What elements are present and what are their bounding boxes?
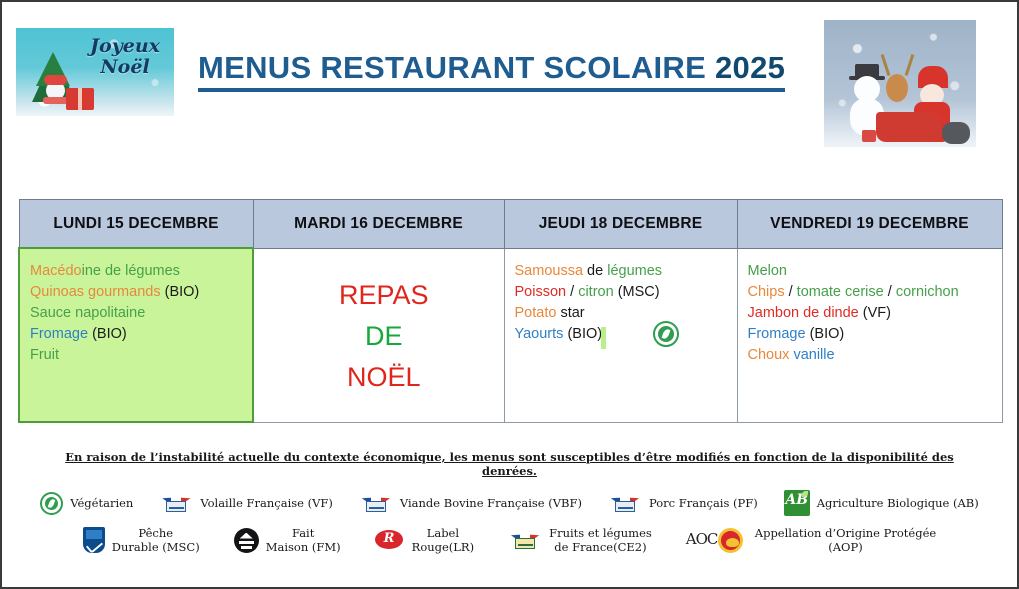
dish-text-segment: (MSC) [618,284,660,300]
table-header-row: LUNDI 15 DECEMBRE MARDI 16 DECEMBRE JEUD… [19,200,1002,249]
snowman-hat-icon [44,75,67,85]
dish-text-segment: / [888,284,896,300]
dish-text-segment: (BIO) [165,284,200,300]
christmas-meal-line-3: NOËL [264,357,504,398]
dish-text-segment: (BIO) [810,326,845,342]
dish-text-segment: vanille [793,347,834,363]
reindeer-antler-right-icon [905,54,915,76]
column-header-jeudi: JEUDI 18 DECEMBRE [504,200,737,249]
rosette-plate [515,538,535,549]
dish-line: Fromage (BIO) [30,324,252,345]
dish-text-segment: légumes [607,263,662,279]
agriculture-biologique-ab-icon: AB [784,490,810,516]
dish-text-segment: citron [578,284,618,300]
dish-line: Potato star [515,303,737,324]
green-accent-bar [601,327,606,349]
christmas-meal-line-2: DE [264,316,504,357]
legend-item: ABAgriculture Biologique (AB) [784,490,979,516]
small-gift-icon [862,130,876,142]
christmas-meal-line-1: REPAS [264,275,504,316]
menu-table: LUNDI 15 DECEMBRE MARDI 16 DECEMBRE JEUD… [18,199,1003,423]
dish-line: Jambon de dinde (VF) [748,303,1002,324]
dish-line: Choux vanille [748,345,1002,366]
legend-label: Agriculture Biologique (AB) [817,496,979,510]
dish-text-segment: Fruit [30,347,59,363]
vegetarian-icon [40,492,63,515]
dish-text-segment: tomate cerise [797,284,888,300]
menu-page: Joyeux Noël MENUS RESTAURANT SCOLAIRE 20… [0,0,1019,589]
snowman-scarf-icon [43,97,68,104]
table-row: Macédoine de légumesQuinoas gourmands (B… [19,248,1002,422]
label-rouge-blob [375,530,403,549]
dish-line: Macédoine de légumes [30,261,252,282]
dish-text-segment: Fromage [30,326,92,342]
dish-text-segment: Fromage [748,326,810,342]
check-icon [86,537,103,554]
dish-text-segment: / [570,284,578,300]
rosette-plate [615,501,635,512]
dish-text-segment: star [560,305,584,321]
legend-item: Porc Français (PF) [608,490,758,516]
dish-text-segment: Jambon de dinde [748,305,863,321]
msc-top-band [86,530,102,539]
sleigh-icon [876,112,942,142]
dish-text-segment: cornichon [896,284,959,300]
msc-sustainable-fishing-icon [83,527,105,553]
dish-text-segment: ine de légumes [82,263,180,279]
dish-line: Sauce napolitaine [30,303,252,324]
legend-item: Label Rouge(LR) [375,526,474,554]
rosette-plate [166,501,186,512]
reindeer-antler-left-icon [881,54,891,76]
dish-text-segment: Chips [748,284,789,300]
dish-line: Samoussa de légumes [515,261,737,282]
gift-box-icon [66,88,94,110]
legend-item: Pêche Durable (MSC) [83,526,200,554]
dish-line: Fruit [30,345,252,366]
footer-legend: En raison de l’instabilité actuelle du c… [2,450,1017,554]
menu-cell-vendredi: MelonChips / tomate cerise / cornichonJa… [737,248,1002,422]
legend-label: Fait Maison (FM) [266,526,341,554]
legend-label: Viande Bovine Française (VBF) [400,496,582,510]
dish-line: Quinoas gourmands (BIO) [30,282,252,303]
french-pork-rosette-icon [608,490,642,516]
dish-text-segment: / [789,284,797,300]
dish-text-segment: (VF) [863,305,891,321]
menu-cell-lundi: Macédoine de légumesQuinoas gourmands (B… [19,248,253,422]
dish-line: Melon [748,261,1002,282]
legend-item: Viande Bovine Française (VBF) [359,490,582,516]
legend-label: Appellation d’Origine Protégée (AOP) [755,526,936,554]
label-rouge-icon [375,529,405,551]
dish-line: Chips / tomate cerise / cornichon [748,282,1002,303]
dish-line: Fromage (BIO) [748,324,1002,345]
legend-item: Fruits et légumes de France(CE2) [508,526,652,554]
page-title-main: MENUS RESTAURANT SCOLAIRE [198,50,715,85]
legend-item: Volaille Française (VF) [159,490,333,516]
dish-text-segment: Poisson [515,284,571,300]
dish-text-segment: Melon [748,263,788,279]
dish-text-segment: (BIO) [567,326,602,342]
legend-label: Pêche Durable (MSC) [112,526,200,554]
menu-cell-jeudi: Samoussa de légumesPoisson / citron (MSC… [504,248,737,422]
dish-line: Poisson / citron (MSC) [515,282,737,303]
reindeer-head-icon [886,74,908,102]
pan-bar-icon [239,541,254,544]
dish-text-segment: Sauce napolitaine [30,305,145,321]
legend-label: Fruits et légumes de France(CE2) [549,526,652,554]
column-header-lundi: LUNDI 15 DECEMBRE [19,200,253,249]
fruits-legumes-de-france-icon [508,527,542,553]
dish-text-segment: Potato [515,305,561,321]
column-header-mardi: MARDI 16 DECEMBRE [253,200,504,249]
french-beef-rosette-icon [359,490,393,516]
column-header-vendredi: VENDREDI 19 DECEMBRE [737,200,1002,249]
aop-appellation-origine-protegee-icon: AOC [686,527,748,553]
legend-item: Végétarien [40,492,133,515]
gift-sack-icon [942,122,970,144]
menu-cell-mardi: REPAS DE NOËL [253,248,504,422]
page-title: MENUS RESTAURANT SCOLAIRE 2025 [198,50,785,92]
dish-text-segment: (BIO) [92,326,127,342]
dish-text-segment: de [587,263,607,279]
joyeux-noel-image: Joyeux Noël [16,28,174,116]
rosette-plate [366,501,386,512]
vegetarian-badge-icon [653,321,679,347]
dish-list-vendredi: MelonChips / tomate cerise / cornichonJa… [748,261,1002,366]
legend-label: Label Rouge(LR) [412,526,474,554]
dish-text-segment: Yaourts [515,326,568,342]
snow-ground [824,147,976,163]
page-title-year: 2025 [715,50,785,85]
dish-line: Yaourts (BIO) [515,324,737,345]
dish-list-jeudi: Samoussa de légumesPoisson / citron (MSC… [515,261,737,345]
dish-text-segment: Quinoas gourmands [30,284,165,300]
dish-text-segment: Choux [748,347,794,363]
dish-list-lundi: Macédoine de légumesQuinoas gourmands (B… [30,261,252,366]
legend-label: Porc Français (PF) [649,496,758,510]
aoc-text: AOC [686,530,718,548]
joyeux-noel-text: Joyeux Noël [82,36,168,78]
dish-text-segment: Samoussa [515,263,588,279]
legend-row-2: Pêche Durable (MSC)Fait Maison (FM)Label… [2,526,1017,554]
dish-text-segment: Macédo [30,263,82,279]
legend-item: Fait Maison (FM) [234,526,341,554]
santa-scene-image [824,20,976,163]
christmas-meal-notice: REPAS DE NOËL [264,261,504,398]
fait-maison-icon [234,528,259,553]
header: Joyeux Noël MENUS RESTAURANT SCOLAIRE 20… [2,2,1017,182]
pan-base-icon [241,546,252,549]
aop-seal [718,528,743,553]
disclaimer-text: En raison de l’instabilité actuelle du c… [2,450,1017,478]
french-poultry-rosette-icon [159,490,193,516]
lid-icon [240,533,253,539]
legend-label: Végétarien [70,496,133,510]
legend-label: Volaille Française (VF) [200,496,333,510]
legend-row-1: VégétarienVolaille Française (VF)Viande … [2,490,1017,516]
legend-item: AOCAppellation d’Origine Protégée (AOP) [686,526,936,554]
